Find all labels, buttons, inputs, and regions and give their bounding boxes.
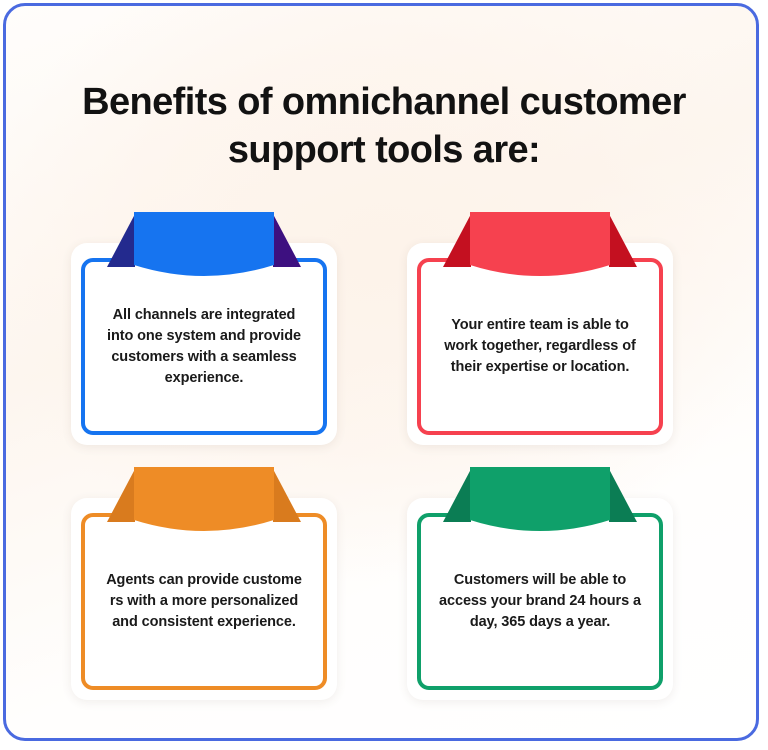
card-panel: Your entire team is able to work togethe…: [417, 258, 663, 435]
card-24-7-brand-access[interactable]: Customers will be able to access your br…: [405, 466, 675, 704]
page-title: Benefits of omnichannel customer support…: [46, 78, 722, 174]
card-panel: Agents can provide custome rs with a mor…: [81, 513, 327, 690]
card-entire-team-collaboration[interactable]: Your entire team is able to work togethe…: [405, 211, 675, 449]
card-text: Customers will be able to access your br…: [421, 570, 659, 633]
card-all-channels-integrated[interactable]: All channels are integrated into one sys…: [69, 211, 339, 449]
benefits-card-grid: All channels are integrated into one sys…: [6, 211, 759, 711]
infographic-canvas: Benefits of omnichannel customer support…: [3, 3, 759, 741]
card-text: All channels are integrated into one sys…: [85, 305, 323, 389]
card-personalized-agent-service[interactable]: Agents can provide custome rs with a mor…: [69, 466, 339, 704]
card-text: Your entire team is able to work togethe…: [421, 315, 659, 378]
card-panel: Customers will be able to access your br…: [417, 513, 663, 690]
card-panel: All channels are integrated into one sys…: [81, 258, 327, 435]
card-text: Agents can provide custome rs with a mor…: [85, 570, 323, 633]
